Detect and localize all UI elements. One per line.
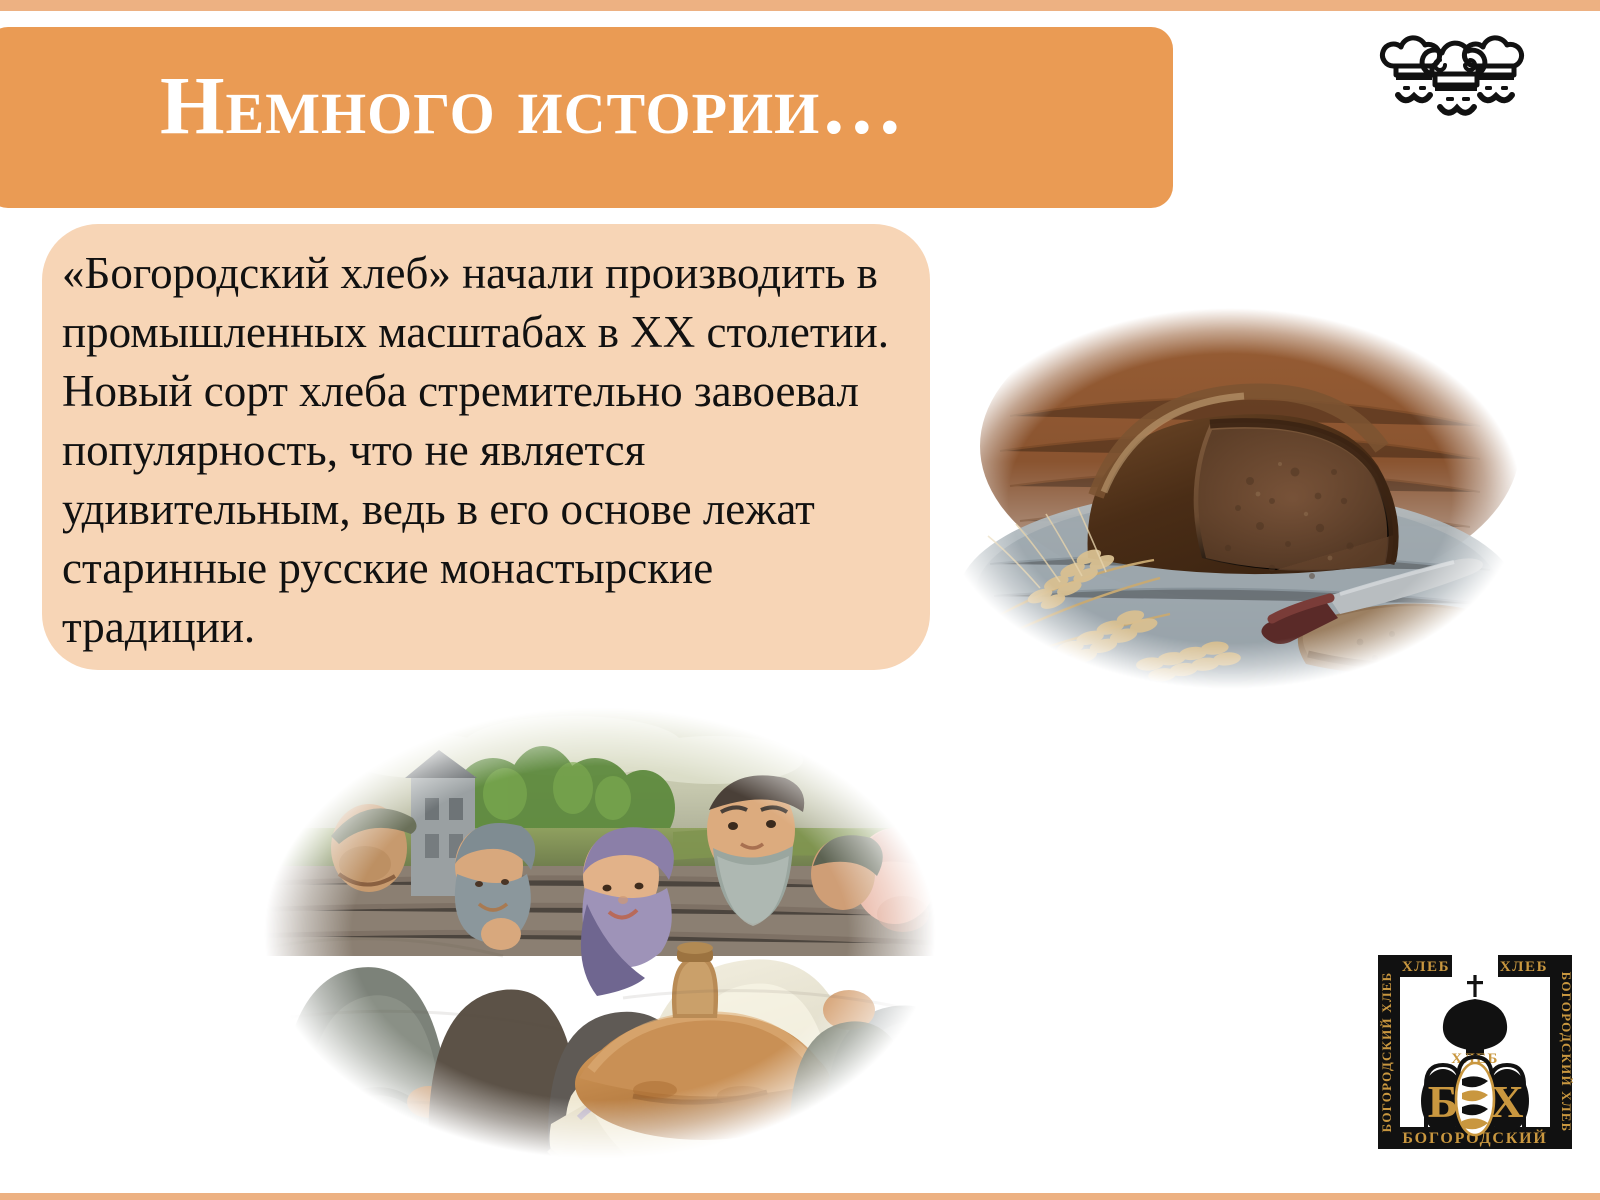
emblem-label-left: БОГОРОДСКИЙ ХЛЕБ: [1379, 972, 1394, 1133]
bread-and-salt-painting: [243, 698, 957, 1168]
emblem-monogram-left: Б: [1428, 1076, 1458, 1127]
emblem-label-top-right: ХЛЕБ: [1500, 959, 1548, 975]
dark-rye-bread-photo: [920, 296, 1540, 701]
emblem-monogram-right: Х: [1490, 1076, 1523, 1127]
slide-canvas: Немного истории…: [0, 0, 1600, 1200]
page-title: Немного истории…: [160, 57, 1160, 153]
three-chefs-icon: [1374, 22, 1534, 122]
emblem-label-right: БОГОРОДСКИЙ ХЛЕБ: [1559, 972, 1574, 1133]
bottom-accent-bar: [0, 1193, 1600, 1200]
top-accent-bar: [0, 0, 1600, 11]
emblem-label-top-left: ХЛЕБ: [1402, 959, 1450, 975]
bogorodsky-hleb-emblem: ХЛЕБ ХЛЕБ БОГОРОДСКИЙ БОГОРОДСКИЙ ХЛЕБ Б…: [1374, 951, 1576, 1153]
body-paragraph: «Богородский хлеб» начали производить в …: [62, 244, 902, 657]
